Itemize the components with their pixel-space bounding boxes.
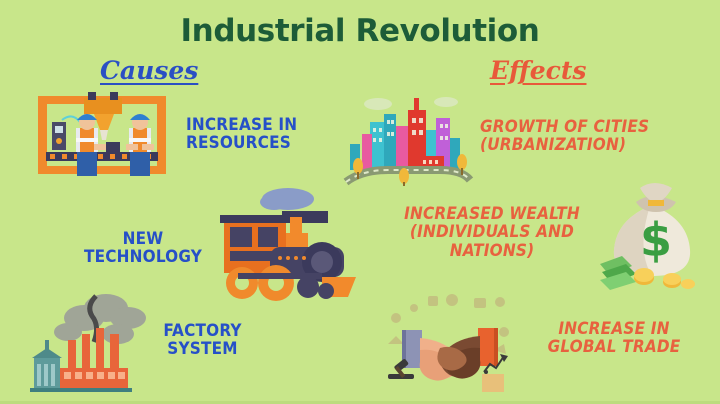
cause-label-increase-in-resources: INCREASE IN RESOURCES xyxy=(186,116,336,153)
money-bag-icon: $ xyxy=(600,178,712,290)
effect-label-growth-of-cities: GROWTH OF CITIES (URBANIZATION) xyxy=(480,118,672,155)
assembly-line-workers-icon xyxy=(32,86,172,184)
effect-label-increase-in-global-trade: INCREASE IN GLOBAL TRADE xyxy=(528,320,700,357)
page-title: Industrial Revolution xyxy=(0,16,720,47)
cause-label-factory-system: FACTORY SYSTEM xyxy=(140,322,265,359)
svg-text:$: $ xyxy=(640,213,672,267)
city-skyline-icon xyxy=(342,92,482,186)
effects-heading: Effects xyxy=(490,58,586,83)
effect-label-increased-wealth: INCREASED WEALTH (INDIVIDUALS AND NATION… xyxy=(378,205,606,260)
cause-label-new-technology: NEW TECHNOLOGY xyxy=(78,230,208,267)
factory-smokestacks-icon xyxy=(22,288,158,394)
causes-heading: Causes xyxy=(100,58,198,83)
infographic-poster: Industrial Revolution Causes Effects xyxy=(0,0,720,404)
handshake-icon xyxy=(374,288,526,398)
steam-locomotive-icon xyxy=(210,185,362,303)
